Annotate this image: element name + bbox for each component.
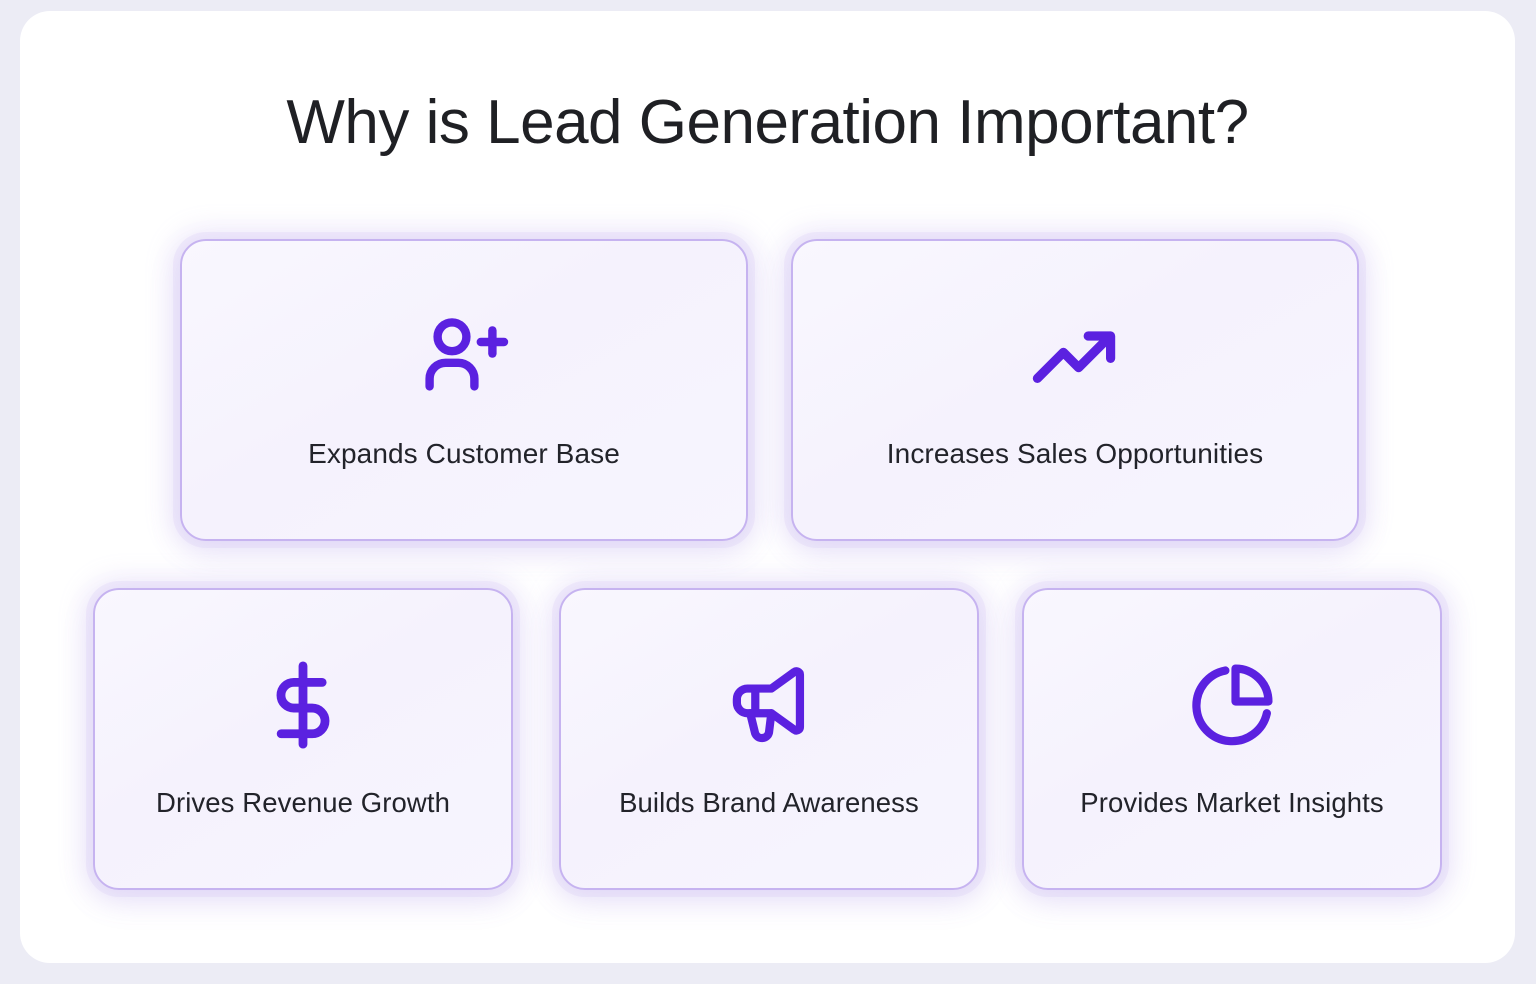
- pie-chart-icon: [1180, 653, 1284, 757]
- benefit-card-increases-sales-opportunities[interactable]: Increases Sales Opportunities: [791, 239, 1359, 541]
- benefit-card-label: Drives Revenue Growth: [156, 787, 450, 819]
- trending-up-icon: [1023, 304, 1127, 408]
- content-panel: Why is Lead Generation Important? Expand…: [20, 11, 1515, 963]
- benefit-card-provides-market-insights[interactable]: Provides Market Insights: [1022, 588, 1442, 890]
- benefit-card-builds-brand-awareness[interactable]: Builds Brand Awareness: [559, 588, 979, 890]
- user-plus-icon: [412, 304, 516, 408]
- benefit-card-drives-revenue-growth[interactable]: Drives Revenue Growth: [93, 588, 513, 890]
- benefit-card-label: Expands Customer Base: [308, 438, 620, 470]
- megaphone-icon: [717, 653, 821, 757]
- dollar-sign-icon: [251, 653, 355, 757]
- benefit-card-label: Provides Market Insights: [1080, 787, 1384, 819]
- benefit-card-grid: Expands Customer Base Increases Sales Op…: [20, 11, 1515, 963]
- benefit-card-label: Increases Sales Opportunities: [887, 438, 1263, 470]
- benefit-card-label: Builds Brand Awareness: [619, 787, 919, 819]
- benefit-card-expands-customer-base[interactable]: Expands Customer Base: [180, 239, 748, 541]
